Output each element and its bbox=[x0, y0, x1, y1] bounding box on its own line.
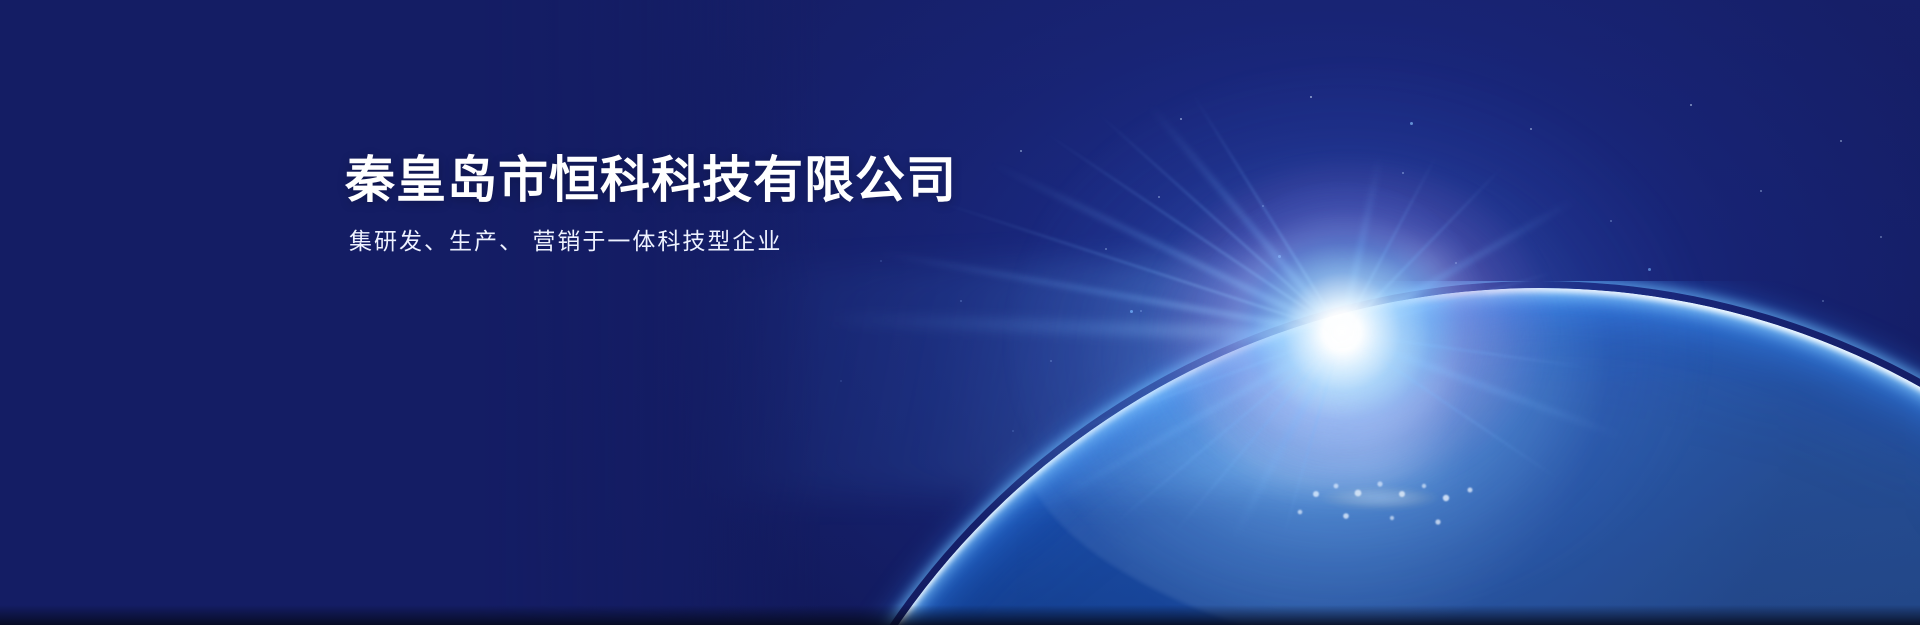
hero-banner: 秦皇岛市恒科科技有限公司 集研发、生产、 营销于一体科技型企业 bbox=[0, 0, 1920, 625]
page-subtitle: 集研发、生产、 营销于一体科技型企业 bbox=[349, 226, 957, 256]
hero-text-block: 秦皇岛市恒科科技有限公司 集研发、生产、 营销于一体科技型企业 bbox=[345, 150, 957, 256]
page-title: 秦皇岛市恒科科技有限公司 bbox=[345, 150, 957, 210]
sunrise-core bbox=[1192, 182, 1492, 482]
